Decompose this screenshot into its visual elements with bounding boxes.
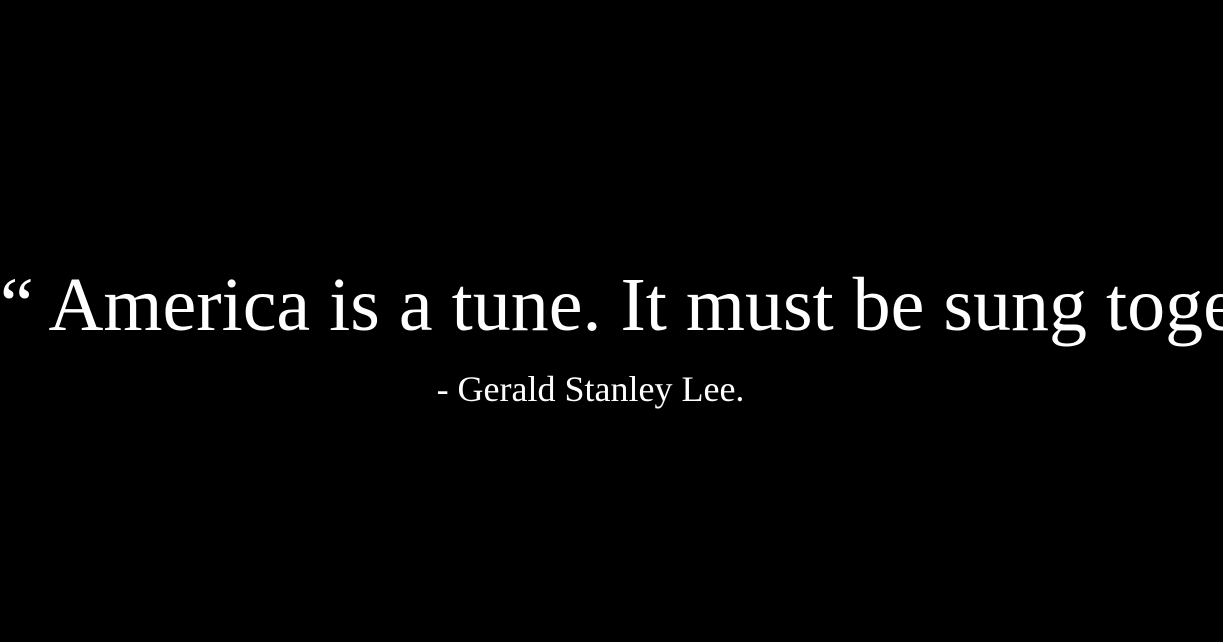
quote-text: “ America is a tune. It must be sung tog…	[0, 267, 1223, 343]
quote-attribution: - Gerald Stanley Lee.	[0, 371, 1202, 407]
quote-card: “ America is a tune. It must be sung tog…	[0, 0, 1223, 642]
quote-body-text: America is a tune. It must be sung toget…	[49, 263, 1223, 347]
quote-spacer-left	[34, 263, 49, 347]
open-quote-mark-icon: “	[0, 263, 34, 347]
quote-block: “ America is a tune. It must be sung tog…	[0, 0, 1223, 642]
